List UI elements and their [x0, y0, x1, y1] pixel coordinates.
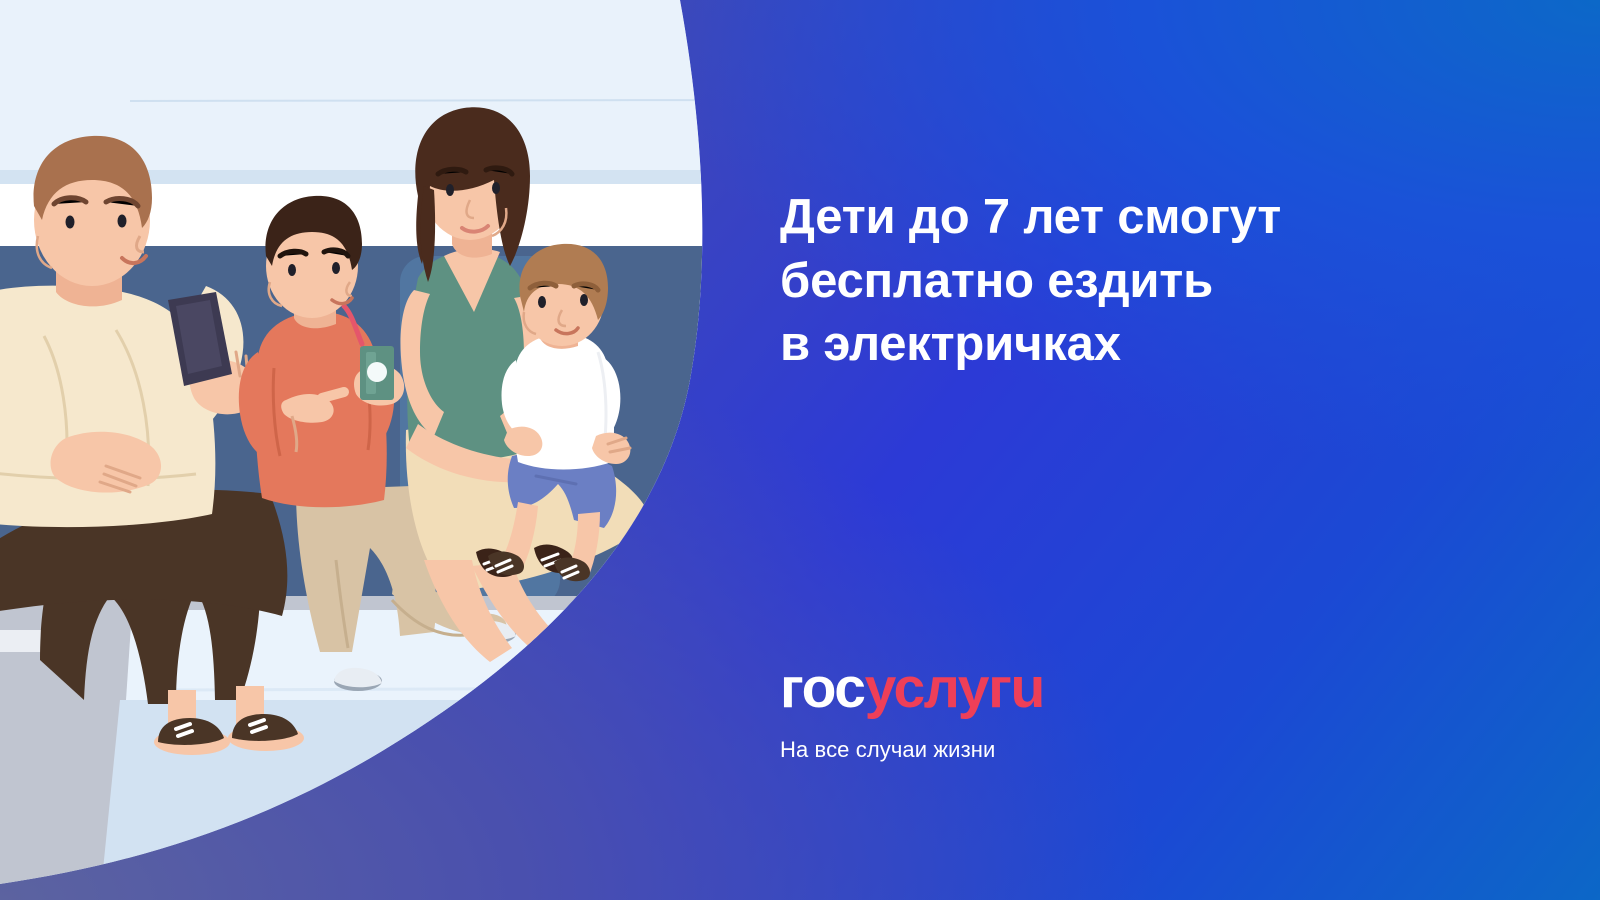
logo-wordmark: госуслугu [780, 660, 1044, 717]
logo-part-latin-u: u [1010, 656, 1043, 720]
logo-part-gos: гос [780, 656, 865, 720]
logo-part-uslugi: услуг [865, 656, 1011, 720]
logo-tagline: На все случаи жизни [780, 737, 1044, 763]
window-reflection-line [130, 100, 720, 101]
toddler-eye-right [580, 294, 588, 306]
page-title: Дети до 7 лет смогут бесплатно ездить в … [780, 186, 1480, 377]
juice-box-logo [367, 362, 387, 382]
gosuslugi-logo[interactable]: госуслугu На все случаи жизни [780, 660, 1044, 763]
toddler-eye-left [538, 296, 546, 308]
boy-eye-left [288, 264, 296, 276]
man-eye-left [66, 216, 75, 229]
woman-eye-right [492, 182, 500, 194]
man-eye-right [118, 215, 127, 228]
gosuslugi-banner: Дети до 7 лет смогут бесплатно ездить в … [0, 0, 1600, 900]
boy-pointing-finger [322, 392, 344, 398]
woman-eye-left [446, 184, 454, 196]
boy-eye-right [332, 262, 340, 274]
